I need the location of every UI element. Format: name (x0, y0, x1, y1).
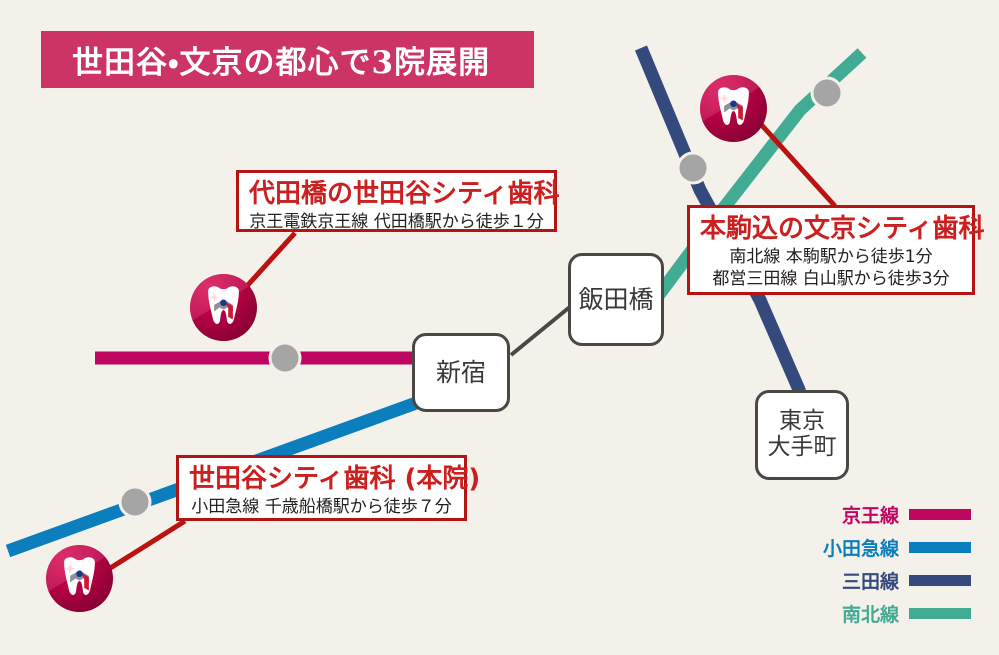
station-node-honkomagome (812, 78, 842, 108)
legend-swatch-odakyu (909, 542, 971, 553)
page-title-banner: 世田谷・文京の都心で3院展開 (41, 31, 534, 88)
legend-item-odakyu: 小田急線 (806, 537, 971, 558)
station-node-chitosefunabashi (120, 487, 150, 517)
tooth-logo-icon (190, 274, 257, 341)
clinic-badge-daitabashi[interactable] (190, 274, 257, 341)
tooth-logo-icon (700, 75, 767, 142)
tooth-logo-icon (46, 545, 113, 612)
legend-item-nanboku: 南北線 (806, 603, 971, 624)
legend-item-mita: 三田線 (806, 570, 971, 591)
connector-honin (104, 521, 185, 572)
station-label-otemachi: 東京 大手町 (768, 409, 837, 461)
legend-swatch-mita (909, 575, 971, 586)
legend-item-keio: 京王線 (806, 504, 971, 525)
legend-label-odakyu: 小田急線 (823, 534, 899, 561)
clinic-access-honkomagome-2: 都営三田線 白山駅から徒歩3分 (700, 268, 962, 291)
station-label-shinjuku: 新宿 (436, 359, 486, 387)
legend-label-mita: 三田線 (842, 567, 899, 594)
legend-swatch-nanboku (909, 608, 971, 619)
station-box-iidabashi[interactable]: 飯田橋 (568, 253, 664, 346)
station-box-shinjuku[interactable]: 新宿 (412, 333, 510, 412)
clinic-access-honin-1: 小田急線 千歳船橋駅から徒歩７分 (189, 496, 454, 519)
clinic-access-honkomagome-1: 南北線 本駒駅から徒歩1分 (700, 246, 962, 269)
legend-swatch-keio (909, 509, 971, 520)
page-title: 世田谷・文京の都心で3院展開 (72, 37, 490, 82)
legend-label-keio: 京王線 (842, 501, 899, 528)
clinic-title-honin: 世田谷シティ歯科 (本院) (189, 464, 454, 496)
station-box-otemachi[interactable]: 東京 大手町 (755, 390, 849, 480)
clinic-callout-honkomagome[interactable]: 本駒込の文京シティ歯科 南北線 本駒駅から徒歩1分 都営三田線 白山駅から徒歩3… (687, 205, 975, 295)
legend: 京王線 小田急線 三田線 南北線 (806, 504, 971, 624)
clinic-callout-daitabashi[interactable]: 代田橋の世田谷シティ歯科 京王電鉄京王線 代田橋駅から徒歩１分 (236, 170, 557, 232)
station-node-hakusan (678, 153, 708, 183)
station-node-daitabashi (270, 343, 300, 373)
clinic-access-daitabashi-1: 京王電鉄京王線 代田橋駅から徒歩１分 (249, 211, 544, 234)
rail-link-shinjuku-iidabashi (511, 306, 571, 355)
clinic-title-daitabashi: 代田橋の世田谷シティ歯科 (249, 179, 544, 211)
station-label-iidabashi: 飯田橋 (578, 286, 653, 314)
clinic-badge-honkomagome[interactable] (700, 75, 767, 142)
map-canvas: 新宿 飯田橋 東京 大手町 (0, 0, 999, 655)
clinic-badge-honin[interactable] (46, 545, 113, 612)
legend-label-nanboku: 南北線 (842, 600, 899, 627)
clinic-callout-honin[interactable]: 世田谷シティ歯科 (本院) 小田急線 千歳船橋駅から徒歩７分 (176, 455, 467, 521)
clinic-title-honkomagome: 本駒込の文京シティ歯科 (700, 214, 962, 246)
